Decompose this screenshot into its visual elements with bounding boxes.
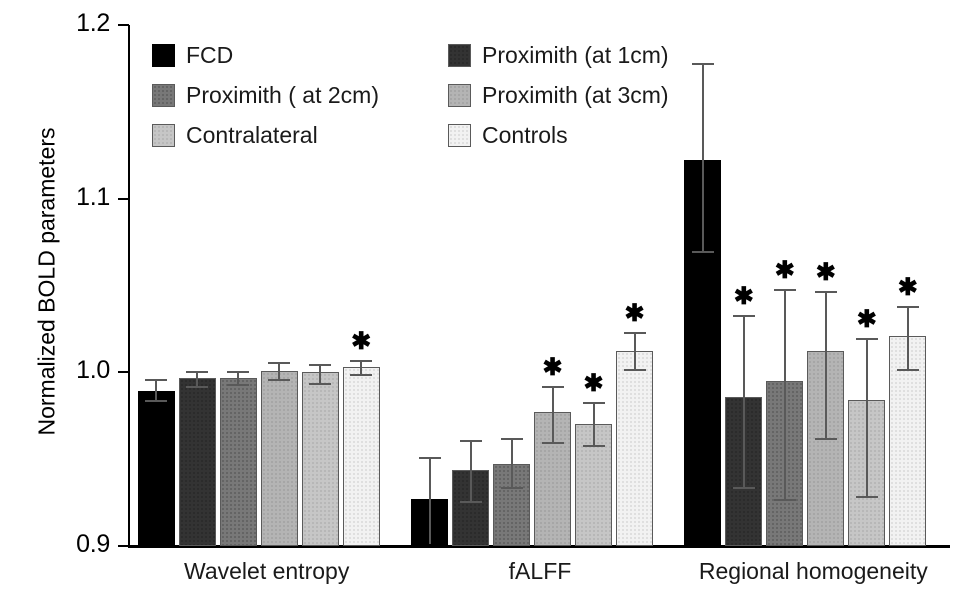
error-bar-cap-lower [815,438,837,440]
error-bar-cap-upper [897,306,919,308]
error-bar-cap-upper [856,338,878,340]
legend-label: Contralateral [186,123,318,148]
significance-asterisk: ✱ [894,276,922,300]
error-bar-stem [429,457,431,544]
error-bar-cap-lower [897,369,919,371]
error-bar-cap-upper [815,291,837,293]
error-bar-cap-upper [419,457,441,459]
significance-asterisk: ✱ [580,372,608,396]
error-bar-stem [511,438,513,487]
legend-label: Proximith (at 3cm) [482,83,669,108]
error-bar-stem [196,371,198,387]
error-bar-cap-upper [583,402,605,404]
legend-row: ContralateralControls [152,118,712,158]
legend-entry: Controls [448,118,712,152]
legend-entry: Proximith (at 3cm) [448,78,712,112]
error-bar-cap-lower [186,386,208,388]
error-bar-cap-upper [501,438,523,440]
error-bar-cap-lower [309,383,331,385]
error-bar-stem [278,362,280,379]
error-bar-stem [907,306,909,369]
significance-asterisk: ✱ [812,261,840,285]
error-bar-stem [743,315,745,487]
bar [616,351,653,546]
error-bar-cap-upper [350,360,372,362]
error-bar-stem [634,332,636,368]
bar-chart-figure: 0.91.01.11.2 Normalized BOLD parameters … [0,0,959,608]
bar [302,372,339,546]
error-bar-stem [593,402,595,445]
legend-entry: FCD [152,38,448,72]
error-bar-cap-upper [542,386,564,388]
legend-label: Proximith (at 1cm) [482,43,669,68]
error-bar-cap-upper [774,289,796,291]
error-bar-stem [319,364,321,383]
significance-asterisk: ✱ [771,259,799,283]
error-bar-cap-lower [733,487,755,489]
significance-asterisk: ✱ [539,356,567,380]
legend-swatch-icon [152,124,175,147]
legend-swatch-icon [152,84,175,107]
significance-asterisk: ✱ [621,302,649,326]
error-bar-cap-upper [624,332,646,334]
legend-entry: Contralateral [152,118,448,152]
error-bar-stem [552,386,554,442]
legend-swatch-icon [448,84,471,107]
legend-swatch-icon [152,44,175,67]
legend-row: FCDProximith (at 1cm) [152,38,712,78]
error-bar-stem [237,371,239,385]
legend-label: Controls [482,123,568,148]
legend-label: FCD [186,43,233,68]
bar [179,378,216,546]
bar [343,367,380,546]
legend-entry: Proximith (at 1cm) [448,38,712,72]
error-bar-cap-upper [145,379,167,381]
legend-swatch-icon [448,44,471,67]
error-bar-cap-lower [624,369,646,371]
error-bar-stem [784,289,786,499]
error-bar-cap-lower [542,442,564,444]
error-bar-cap-upper [733,315,755,317]
significance-asterisk: ✱ [347,330,375,354]
bar [220,378,257,546]
error-bar-cap-lower [350,374,372,376]
error-bar-cap-upper [227,371,249,373]
error-bar-stem [360,360,362,374]
error-bar-cap-lower [227,384,249,386]
error-bar-stem [866,338,868,496]
legend-swatch-icon [448,124,471,147]
legend-row: Proximith ( at 2cm)Proximith (at 3cm) [152,78,712,118]
error-bar-cap-lower [268,379,290,381]
error-bar-cap-lower [501,487,523,489]
bar [261,371,298,546]
error-bar-cap-lower [583,445,605,447]
error-bar-cap-lower [692,251,714,253]
legend-entry: Proximith ( at 2cm) [152,78,448,112]
chart-legend: FCDProximith (at 1cm)Proximith ( at 2cm)… [152,38,712,158]
error-bar-cap-upper [460,440,482,442]
error-bar-cap-lower [856,496,878,498]
error-bar-cap-lower [774,499,796,501]
error-bar-cap-lower [145,400,167,402]
error-bar-cap-upper [309,364,331,366]
error-bar-cap-upper [186,371,208,373]
legend-label: Proximith ( at 2cm) [186,83,379,108]
error-bar-cap-lower [460,501,482,503]
bar [138,391,175,546]
error-bar-stem [825,291,827,439]
error-bar-stem [470,440,472,501]
significance-asterisk: ✱ [730,285,758,309]
error-bar-stem [155,379,157,400]
significance-asterisk: ✱ [853,308,881,332]
error-bar-cap-upper [268,362,290,364]
